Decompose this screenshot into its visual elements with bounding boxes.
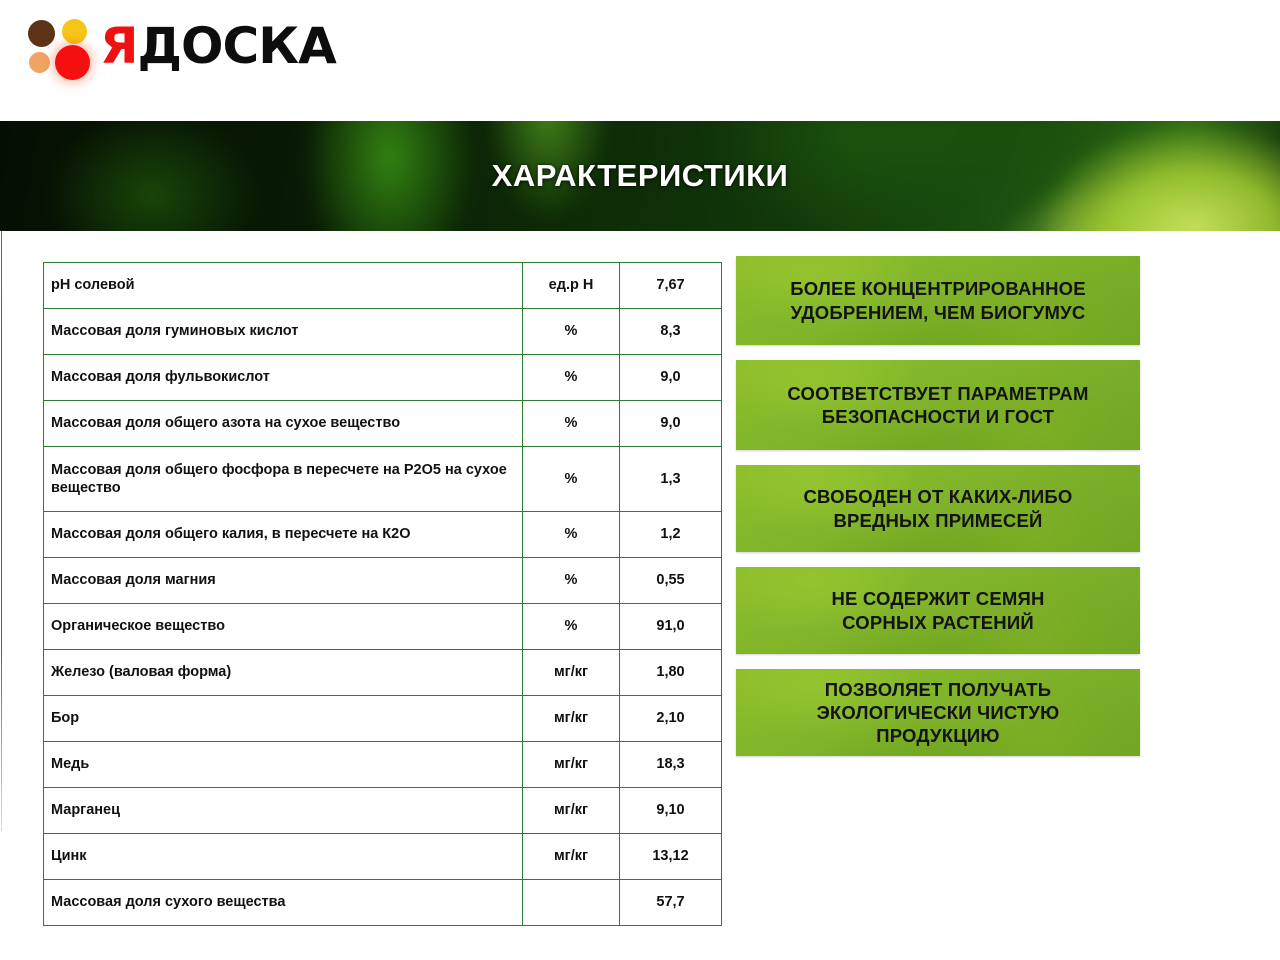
- logo-dot-peach-icon: [29, 52, 50, 73]
- table-cell-name: Массовая доля гуминовых кислот: [44, 309, 523, 355]
- table-cell-unit: мг/кг: [523, 696, 620, 742]
- specification-table-body: pH солевой ед.р Н 7,67 Массовая доля гум…: [44, 263, 722, 926]
- table-cell-name: Марганец: [44, 788, 523, 834]
- table-cell-unit: %: [523, 355, 620, 401]
- logo-wordmark-rest: ДОСКА: [138, 17, 336, 75]
- site-logo[interactable]: ЯДОСКА: [22, 12, 322, 92]
- table-cell-unit: мг/кг: [523, 788, 620, 834]
- table-cell-value: 0,55: [620, 558, 722, 604]
- benefit-box: ПОЗВОЛЯЕТ ПОЛУЧАТЬ ЭКОЛОГИЧЕСКИ ЧИСТУЮ П…: [736, 669, 1140, 756]
- benefit-text: ПОЗВОЛЯЕТ ПОЛУЧАТЬ ЭКОЛОГИЧЕСКИ ЧИСТУЮ П…: [807, 678, 1070, 748]
- table-cell-name: Массовая доля сухого вещества: [44, 880, 523, 926]
- table-cell-name: Органическое вещество: [44, 604, 523, 650]
- table-cell-value: 1,80: [620, 650, 722, 696]
- table-cell-value: 91,0: [620, 604, 722, 650]
- table-cell-value: 9,0: [620, 401, 722, 447]
- table-cell-value: 2,10: [620, 696, 722, 742]
- table-row: Массовая доля общего азота на сухое веще…: [44, 401, 722, 447]
- table-cell-unit: %: [523, 604, 620, 650]
- table-row: Органическое вещество % 91,0: [44, 604, 722, 650]
- table-cell-name: Цинк: [44, 834, 523, 880]
- table-row: Медь мг/кг 18,3: [44, 742, 722, 788]
- table-cell-unit: мг/кг: [523, 834, 620, 880]
- table-cell-name: pH солевой: [44, 263, 523, 309]
- logo-dot-red-icon: [55, 45, 90, 80]
- table-cell-unit: %: [523, 512, 620, 558]
- table-cell-name: Железо (валовая форма): [44, 650, 523, 696]
- logo-dot-yellow-icon: [62, 19, 87, 44]
- benefit-text: БОЛЕЕ КОНЦЕНТРИРОВАННОЕ УДОБРЕНИЕМ, ЧЕМ …: [780, 277, 1096, 324]
- table-cell-value: 1,3: [620, 447, 722, 512]
- table-cell-value: 9,10: [620, 788, 722, 834]
- table-cell-name: Массовая доля фульвокислот: [44, 355, 523, 401]
- table-row: Массовая доля гуминовых кислот % 8,3: [44, 309, 722, 355]
- table-cell-value: 1,2: [620, 512, 722, 558]
- table-cell-name: Медь: [44, 742, 523, 788]
- logo-dot-brown-icon: [28, 20, 55, 47]
- logo-dots-icon: [22, 18, 96, 80]
- header-banner: ХАРАКТЕРИСТИКИ: [0, 121, 1280, 231]
- specification-table: pH солевой ед.р Н 7,67 Массовая доля гум…: [43, 262, 722, 926]
- table-cell-name: Массовая доля общего калия, в пересчете …: [44, 512, 523, 558]
- benefits-list: БОЛЕЕ КОНЦЕНТРИРОВАННОЕ УДОБРЕНИЕМ, ЧЕМ …: [736, 256, 1140, 771]
- table-row: Железо (валовая форма) мг/кг 1,80: [44, 650, 722, 696]
- table-row: Массовая доля фульвокислот % 9,0: [44, 355, 722, 401]
- page-title: ХАРАКТЕРИСТИКИ: [0, 121, 1280, 231]
- table-cell-unit: %: [523, 558, 620, 604]
- table-cell-unit: [523, 880, 620, 926]
- table-cell-name: Массовая доля общего фосфора в пересчете…: [44, 447, 523, 512]
- table-row: pH солевой ед.р Н 7,67: [44, 263, 722, 309]
- table-cell-unit: ед.р Н: [523, 263, 620, 309]
- table-cell-unit: мг/кг: [523, 650, 620, 696]
- table-row: Массовая доля магния % 0,55: [44, 558, 722, 604]
- table-cell-unit: мг/кг: [523, 742, 620, 788]
- table-row: Цинк мг/кг 13,12: [44, 834, 722, 880]
- table-cell-name: Бор: [44, 696, 523, 742]
- benefit-box: НЕ СОДЕРЖИТ СЕМЯН СОРНЫХ РАСТЕНИЙ: [736, 567, 1140, 654]
- table-cell-value: 8,3: [620, 309, 722, 355]
- table-row: Массовая доля общего калия, в пересчете …: [44, 512, 722, 558]
- table-row: Марганец мг/кг 9,10: [44, 788, 722, 834]
- table-cell-value: 13,12: [620, 834, 722, 880]
- left-edge-rule: [1, 231, 2, 831]
- benefit-box: БОЛЕЕ КОНЦЕНТРИРОВАННОЕ УДОБРЕНИЕМ, ЧЕМ …: [736, 256, 1140, 345]
- benefit-text: СВОБОДЕН ОТ КАКИХ-ЛИБО ВРЕДНЫХ ПРИМЕСЕЙ: [793, 485, 1082, 532]
- table-cell-value: 7,67: [620, 263, 722, 309]
- benefit-text: НЕ СОДЕРЖИТ СЕМЯН СОРНЫХ РАСТЕНИЙ: [821, 587, 1054, 634]
- table-cell-unit: %: [523, 447, 620, 512]
- logo-wordmark-accent: Я: [100, 17, 138, 75]
- table-cell-unit: %: [523, 401, 620, 447]
- benefit-text: СООТВЕТСТВУЕТ ПАРАМЕТРАМ БЕЗОПАСНОСТИ И …: [777, 382, 1098, 429]
- table-row: Массовая доля общего фосфора в пересчете…: [44, 447, 722, 512]
- table-row: Бор мг/кг 2,10: [44, 696, 722, 742]
- table-cell-value: 18,3: [620, 742, 722, 788]
- table-cell-unit: %: [523, 309, 620, 355]
- table-cell-name: Массовая доля общего азота на сухое веще…: [44, 401, 523, 447]
- benefit-box: СВОБОДЕН ОТ КАКИХ-ЛИБО ВРЕДНЫХ ПРИМЕСЕЙ: [736, 465, 1140, 552]
- logo-wordmark: ЯДОСКА: [100, 14, 336, 78]
- table-cell-name: Массовая доля магния: [44, 558, 523, 604]
- table-cell-value: 57,7: [620, 880, 722, 926]
- table-row: Массовая доля сухого вещества 57,7: [44, 880, 722, 926]
- table-cell-value: 9,0: [620, 355, 722, 401]
- benefit-box: СООТВЕТСТВУЕТ ПАРАМЕТРАМ БЕЗОПАСНОСТИ И …: [736, 360, 1140, 450]
